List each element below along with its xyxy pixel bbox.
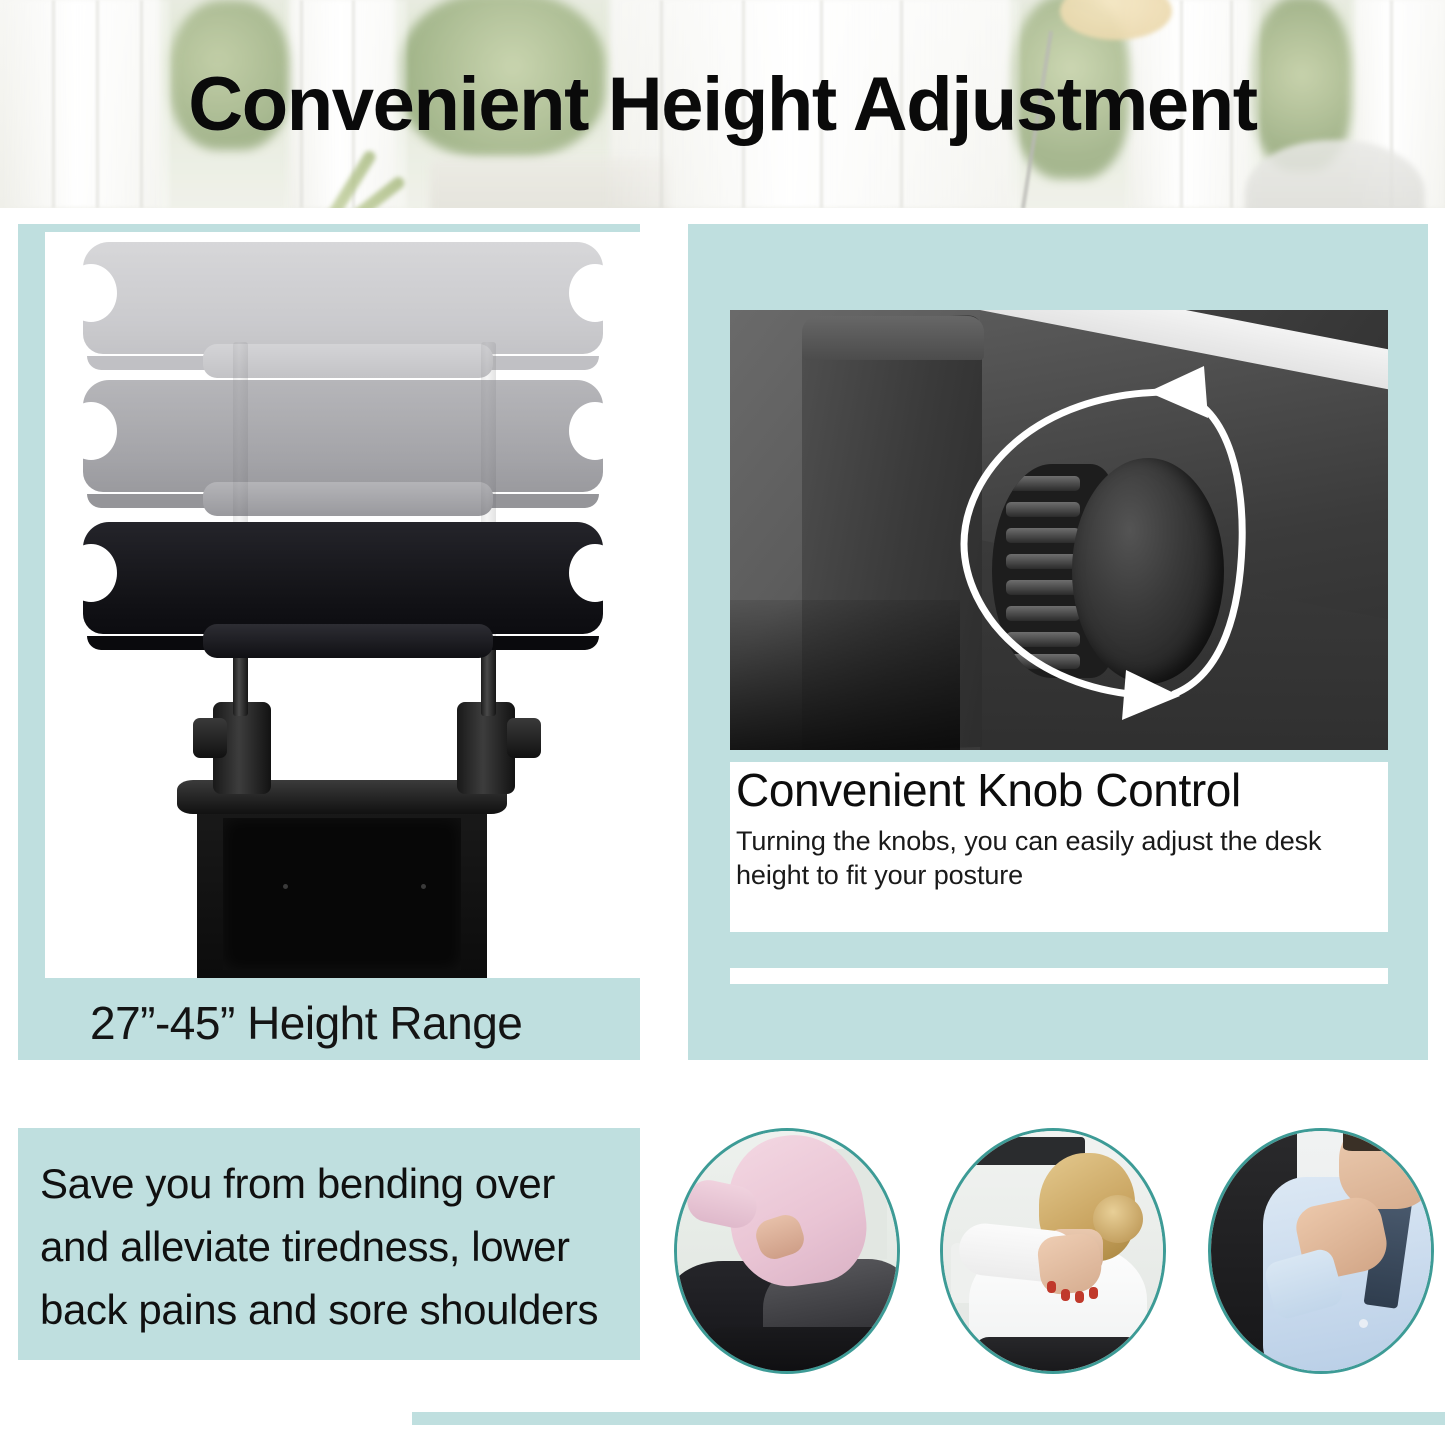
keyboard-tray-ghost [203, 344, 493, 378]
infographic-page: Convenient Height Adjustment [0, 0, 1445, 1445]
knob-control-body-line1: Turning the knobs, you can easily adjust… [736, 824, 1380, 858]
footer-accent-bar [412, 1412, 1445, 1425]
knob-closeup-photo [730, 310, 1388, 750]
height-range-caption: 27”-45” Height Range [18, 985, 640, 1060]
desk-height-illustration [45, 232, 640, 978]
height-range-photo [45, 232, 640, 978]
pain-points-photo-group [668, 1118, 1428, 1370]
page-title: Convenient Height Adjustment [0, 0, 1445, 208]
knob-control-title: Convenient Knob Control [736, 766, 1380, 815]
benefits-text-block: Save you from bending over and alleviate… [18, 1128, 640, 1360]
rotation-arrow-icon [912, 358, 1252, 730]
adjustment-knob [507, 718, 541, 758]
keyboard-tray-ghost [203, 482, 493, 516]
benefit-line: Save you from bending over [40, 1152, 624, 1215]
keyboard-tray [203, 624, 493, 658]
benefit-line: and alleviate tiredness, lower [40, 1215, 624, 1278]
back-pain-photo [674, 1128, 900, 1374]
adjustment-knob [193, 718, 227, 758]
desktop-middle-ghost [83, 380, 603, 510]
knob-control-body-line2: height to fit your posture [736, 858, 1380, 892]
cabinet-screw [421, 884, 426, 889]
neck-pain-photo [940, 1128, 1166, 1374]
shoulder-pain-photo [1208, 1128, 1434, 1374]
cabinet-screw [283, 884, 288, 889]
desktop-highest-ghost [83, 242, 603, 372]
desk-leg-cap [802, 316, 984, 360]
header-banner: Convenient Height Adjustment [0, 0, 1445, 208]
benefit-line: back pains and sore shoulders [40, 1278, 624, 1341]
cabinet-panel [223, 818, 461, 970]
right-panel-accent-strip [730, 968, 1388, 984]
desktop-lowest [83, 522, 603, 652]
knob-control-caption: Convenient Knob Control Turning the knob… [730, 762, 1388, 932]
desk-cabinet [197, 810, 487, 978]
knob-control-body: Turning the knobs, you can easily adjust… [736, 824, 1380, 892]
